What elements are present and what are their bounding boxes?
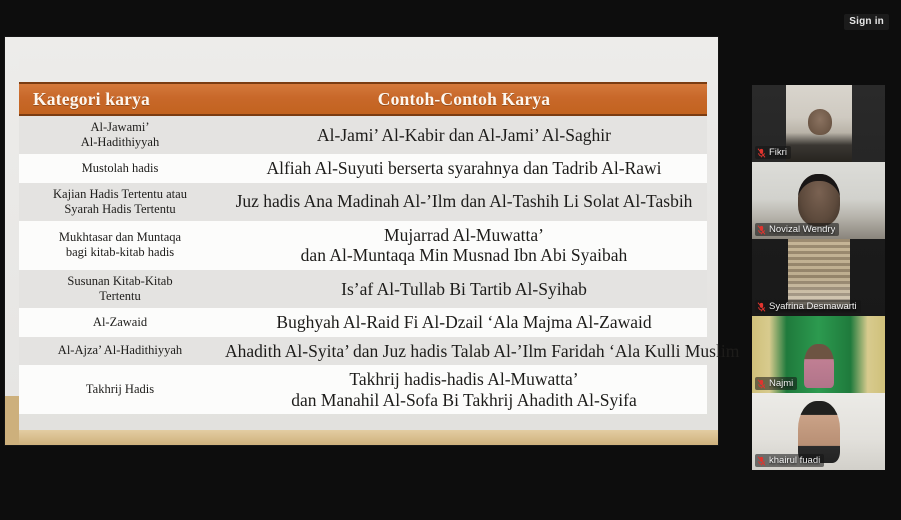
- cell-line: Kajian Hadis Tertentu atau: [23, 187, 217, 202]
- shared-screen-slide[interactable]: Kategori karya Contoh-Contoh Karya Al-Ja…: [5, 37, 718, 445]
- participant-tile[interactable]: Novizal Wendry: [752, 162, 885, 239]
- top-bar: Sign in: [0, 0, 901, 36]
- participant-name: Najmi: [769, 378, 793, 389]
- cell-line: Mukhtasar dan Muntaqa: [23, 230, 217, 245]
- table-row: Takhrij HadisTakhrij hadis-hadis Al-Muwa…: [19, 365, 707, 414]
- participant-nameplate: Novizal Wendry: [755, 223, 839, 236]
- participant-name: Syafrina Desmawarti: [769, 301, 857, 312]
- mic-muted-icon: [757, 379, 766, 389]
- participant-nameplate: Fikri: [755, 146, 791, 159]
- table-row: Mustolah hadisAlfiah Al-Suyuti berserta …: [19, 154, 707, 183]
- cell-line: Ahadith Al-Syita’ dan Juz hadis Talab Al…: [225, 341, 703, 362]
- cell-line: Alfiah Al-Suyuti berserta syarahnya dan …: [225, 158, 703, 179]
- cell-line: Al-Jami’ Al-Kabir dan Al-Jami’ Al-Saghir: [225, 125, 703, 146]
- cell-kategori: Mustolah hadis: [19, 154, 221, 183]
- cell-line: Takhrij hadis-hadis Al-Muwatta’: [225, 369, 703, 390]
- participant-name: khairul fuadi: [769, 455, 820, 466]
- table-row: Mukhtasar dan Muntaqabagi kitab-kitab ha…: [19, 221, 707, 270]
- meeting-window: Sign in Kategori karya Contoh-Contoh Kar…: [0, 0, 901, 520]
- participant-name: Novizal Wendry: [769, 224, 835, 235]
- slide-left-edge-decoration: [5, 37, 19, 445]
- cell-kategori: Susunan Kitab-KitabTertentu: [19, 270, 221, 308]
- cell-line: dan Manahil Al-Sofa Bi Takhrij Ahadith A…: [225, 390, 703, 411]
- participant-nameplate: Syafrina Desmawarti: [755, 300, 861, 313]
- cell-line: Al-Jawami’: [23, 120, 217, 135]
- cell-contoh: Juz hadis Ana Madinah Al-’Ilm dan Al-Tas…: [221, 183, 707, 221]
- sign-in-button[interactable]: Sign in: [844, 14, 889, 30]
- participant-nameplate: Najmi: [755, 377, 797, 390]
- mic-muted-icon: [757, 456, 766, 466]
- cell-line: Juz hadis Ana Madinah Al-’Ilm dan Al-Tas…: [225, 191, 703, 212]
- mic-muted-icon: [757, 148, 766, 158]
- cell-line: dan Al-Muntaqa Min Musnad Ibn Abi Syaiba…: [225, 245, 703, 266]
- cell-kategori: Mukhtasar dan Muntaqabagi kitab-kitab ha…: [19, 221, 221, 270]
- cell-contoh: Bughyah Al-Raid Fi Al-Dzail ‘Ala Majma A…: [221, 308, 707, 337]
- cell-contoh: Takhrij hadis-hadis Al-Muwatta’dan Manah…: [221, 365, 707, 414]
- table-row: Susunan Kitab-KitabTertentuIs’af Al-Tull…: [19, 270, 707, 308]
- cell-line: Takhrij Hadis: [23, 382, 217, 397]
- table-row: Al-Ajza’ Al-HadithiyyahAhadith Al-Syita’…: [19, 337, 707, 366]
- cell-contoh: Alfiah Al-Suyuti berserta syarahnya dan …: [221, 154, 707, 183]
- cell-line: Bughyah Al-Raid Fi Al-Dzail ‘Ala Majma A…: [225, 312, 703, 333]
- mic-muted-icon: [757, 225, 766, 235]
- table-row: Al-Jawami’Al-HadithiyyahAl-Jami’ Al-Kabi…: [19, 115, 707, 154]
- participant-filmstrip: FikriNovizal WendrySyafrina DesmawartiNa…: [752, 85, 885, 470]
- cell-line: Tertentu: [23, 289, 217, 304]
- participant-tile[interactable]: Syafrina Desmawarti: [752, 239, 885, 316]
- cell-kategori: Kajian Hadis Tertentu atauSyarah Hadis T…: [19, 183, 221, 221]
- cell-kategori: Takhrij Hadis: [19, 365, 221, 414]
- participant-tile[interactable]: Najmi: [752, 316, 885, 393]
- karya-table: Kategori karya Contoh-Contoh Karya Al-Ja…: [19, 82, 707, 414]
- table-header-row: Kategori karya Contoh-Contoh Karya: [19, 83, 707, 115]
- participant-name: Fikri: [769, 147, 787, 158]
- cell-kategori: Al-Jawami’Al-Hadithiyyah: [19, 115, 221, 154]
- mic-muted-icon: [757, 302, 766, 312]
- column-header-kategori: Kategori karya: [19, 83, 221, 115]
- cell-line: Mustolah hadis: [23, 161, 217, 176]
- table-body: Al-Jawami’Al-HadithiyyahAl-Jami’ Al-Kabi…: [19, 115, 707, 414]
- cell-line: bagi kitab-kitab hadis: [23, 245, 217, 260]
- slide-bottom-bar-decoration: [19, 430, 718, 445]
- cell-line: Is’af Al-Tullab Bi Tartib Al-Syihab: [225, 279, 703, 300]
- cell-kategori: Al-Ajza’ Al-Hadithiyyah: [19, 337, 221, 366]
- column-header-contoh: Contoh-Contoh Karya: [221, 83, 707, 115]
- cell-contoh: Ahadith Al-Syita’ dan Juz hadis Talab Al…: [221, 337, 707, 366]
- cell-line: Al-Ajza’ Al-Hadithiyyah: [23, 343, 217, 358]
- cell-line: Al-Zawaid: [23, 315, 217, 330]
- cell-line: Al-Hadithiyyah: [23, 135, 217, 150]
- cell-line: Syarah Hadis Tertentu: [23, 202, 217, 217]
- participant-nameplate: khairul fuadi: [755, 454, 824, 467]
- cell-kategori: Al-Zawaid: [19, 308, 221, 337]
- cell-contoh: Al-Jami’ Al-Kabir dan Al-Jami’ Al-Saghir: [221, 115, 707, 154]
- table-row: Kajian Hadis Tertentu atauSyarah Hadis T…: [19, 183, 707, 221]
- cell-line: Mujarrad Al-Muwatta’: [225, 225, 703, 246]
- cell-line: Susunan Kitab-Kitab: [23, 274, 217, 289]
- participant-tile[interactable]: Fikri: [752, 85, 885, 162]
- cell-contoh: Is’af Al-Tullab Bi Tartib Al-Syihab: [221, 270, 707, 308]
- table-row: Al-ZawaidBughyah Al-Raid Fi Al-Dzail ‘Al…: [19, 308, 707, 337]
- cell-contoh: Mujarrad Al-Muwatta’dan Al-Muntaqa Min M…: [221, 221, 707, 270]
- participant-tile[interactable]: khairul fuadi: [752, 393, 885, 470]
